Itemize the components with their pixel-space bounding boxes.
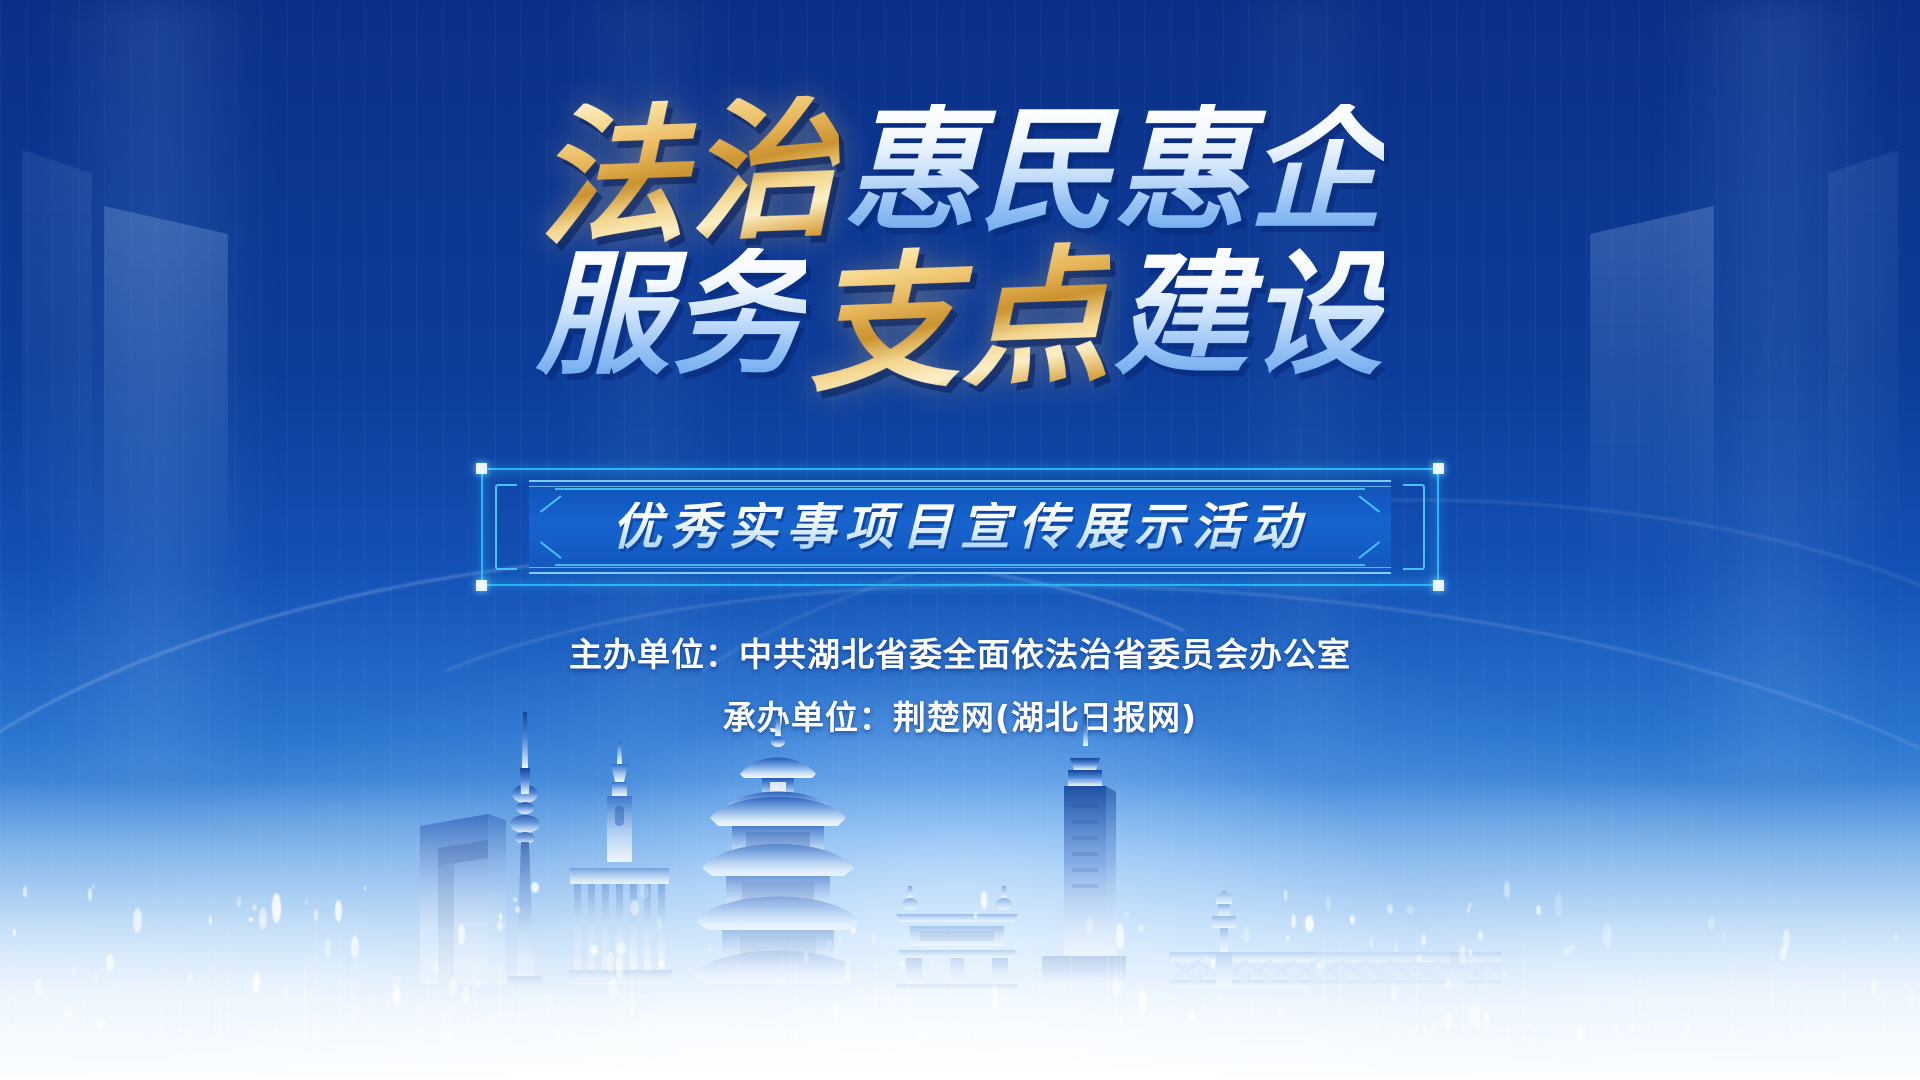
banner-chamfer-top <box>555 488 1365 490</box>
organizer-host-line: 主办单位：中共湖北省委全面依法治省委员会办公室 <box>0 638 1920 671</box>
title-word-jianshe: 建设 <box>1114 248 1384 382</box>
banner-corner-top-left <box>476 463 487 474</box>
banner-bracket-right <box>1403 484 1425 570</box>
banner-inner-plate: 优秀实事项目宣传展示活动 <box>529 480 1391 574</box>
poster-canvas: 法治惠民惠企 服务支点建设 优秀实事项目宣传展示活动 主办单位：中共湖北省委全面… <box>0 0 1920 1080</box>
banner-chamfer-bottom <box>555 564 1365 566</box>
bottom-fade <box>0 1064 1920 1080</box>
subtitle-text: 优秀实事项目宣传展示活动 <box>612 502 1308 552</box>
title-word-huiminhuiqi: 惠民惠企 <box>844 104 1384 238</box>
title-word-fazhi: 法治 <box>533 95 842 256</box>
banner-corner-bottom-left <box>476 580 487 591</box>
title-word-fuwu: 服务 <box>536 248 806 382</box>
light-particles <box>0 850 1920 1040</box>
title-line-1: 法治惠民惠企 <box>0 96 1920 246</box>
banner-corner-bottom-right <box>1433 580 1444 591</box>
poster-title: 法治惠民惠企 服务支点建设 <box>0 96 1920 390</box>
banner-corner-top-right <box>1433 463 1444 474</box>
banner-bracket-left <box>495 484 517 570</box>
title-word-zhidian: 支点 <box>805 241 1114 402</box>
title-line-2: 服务支点建设 <box>0 240 1920 390</box>
subtitle-banner: 优秀实事项目宣传展示活动 <box>481 468 1439 586</box>
